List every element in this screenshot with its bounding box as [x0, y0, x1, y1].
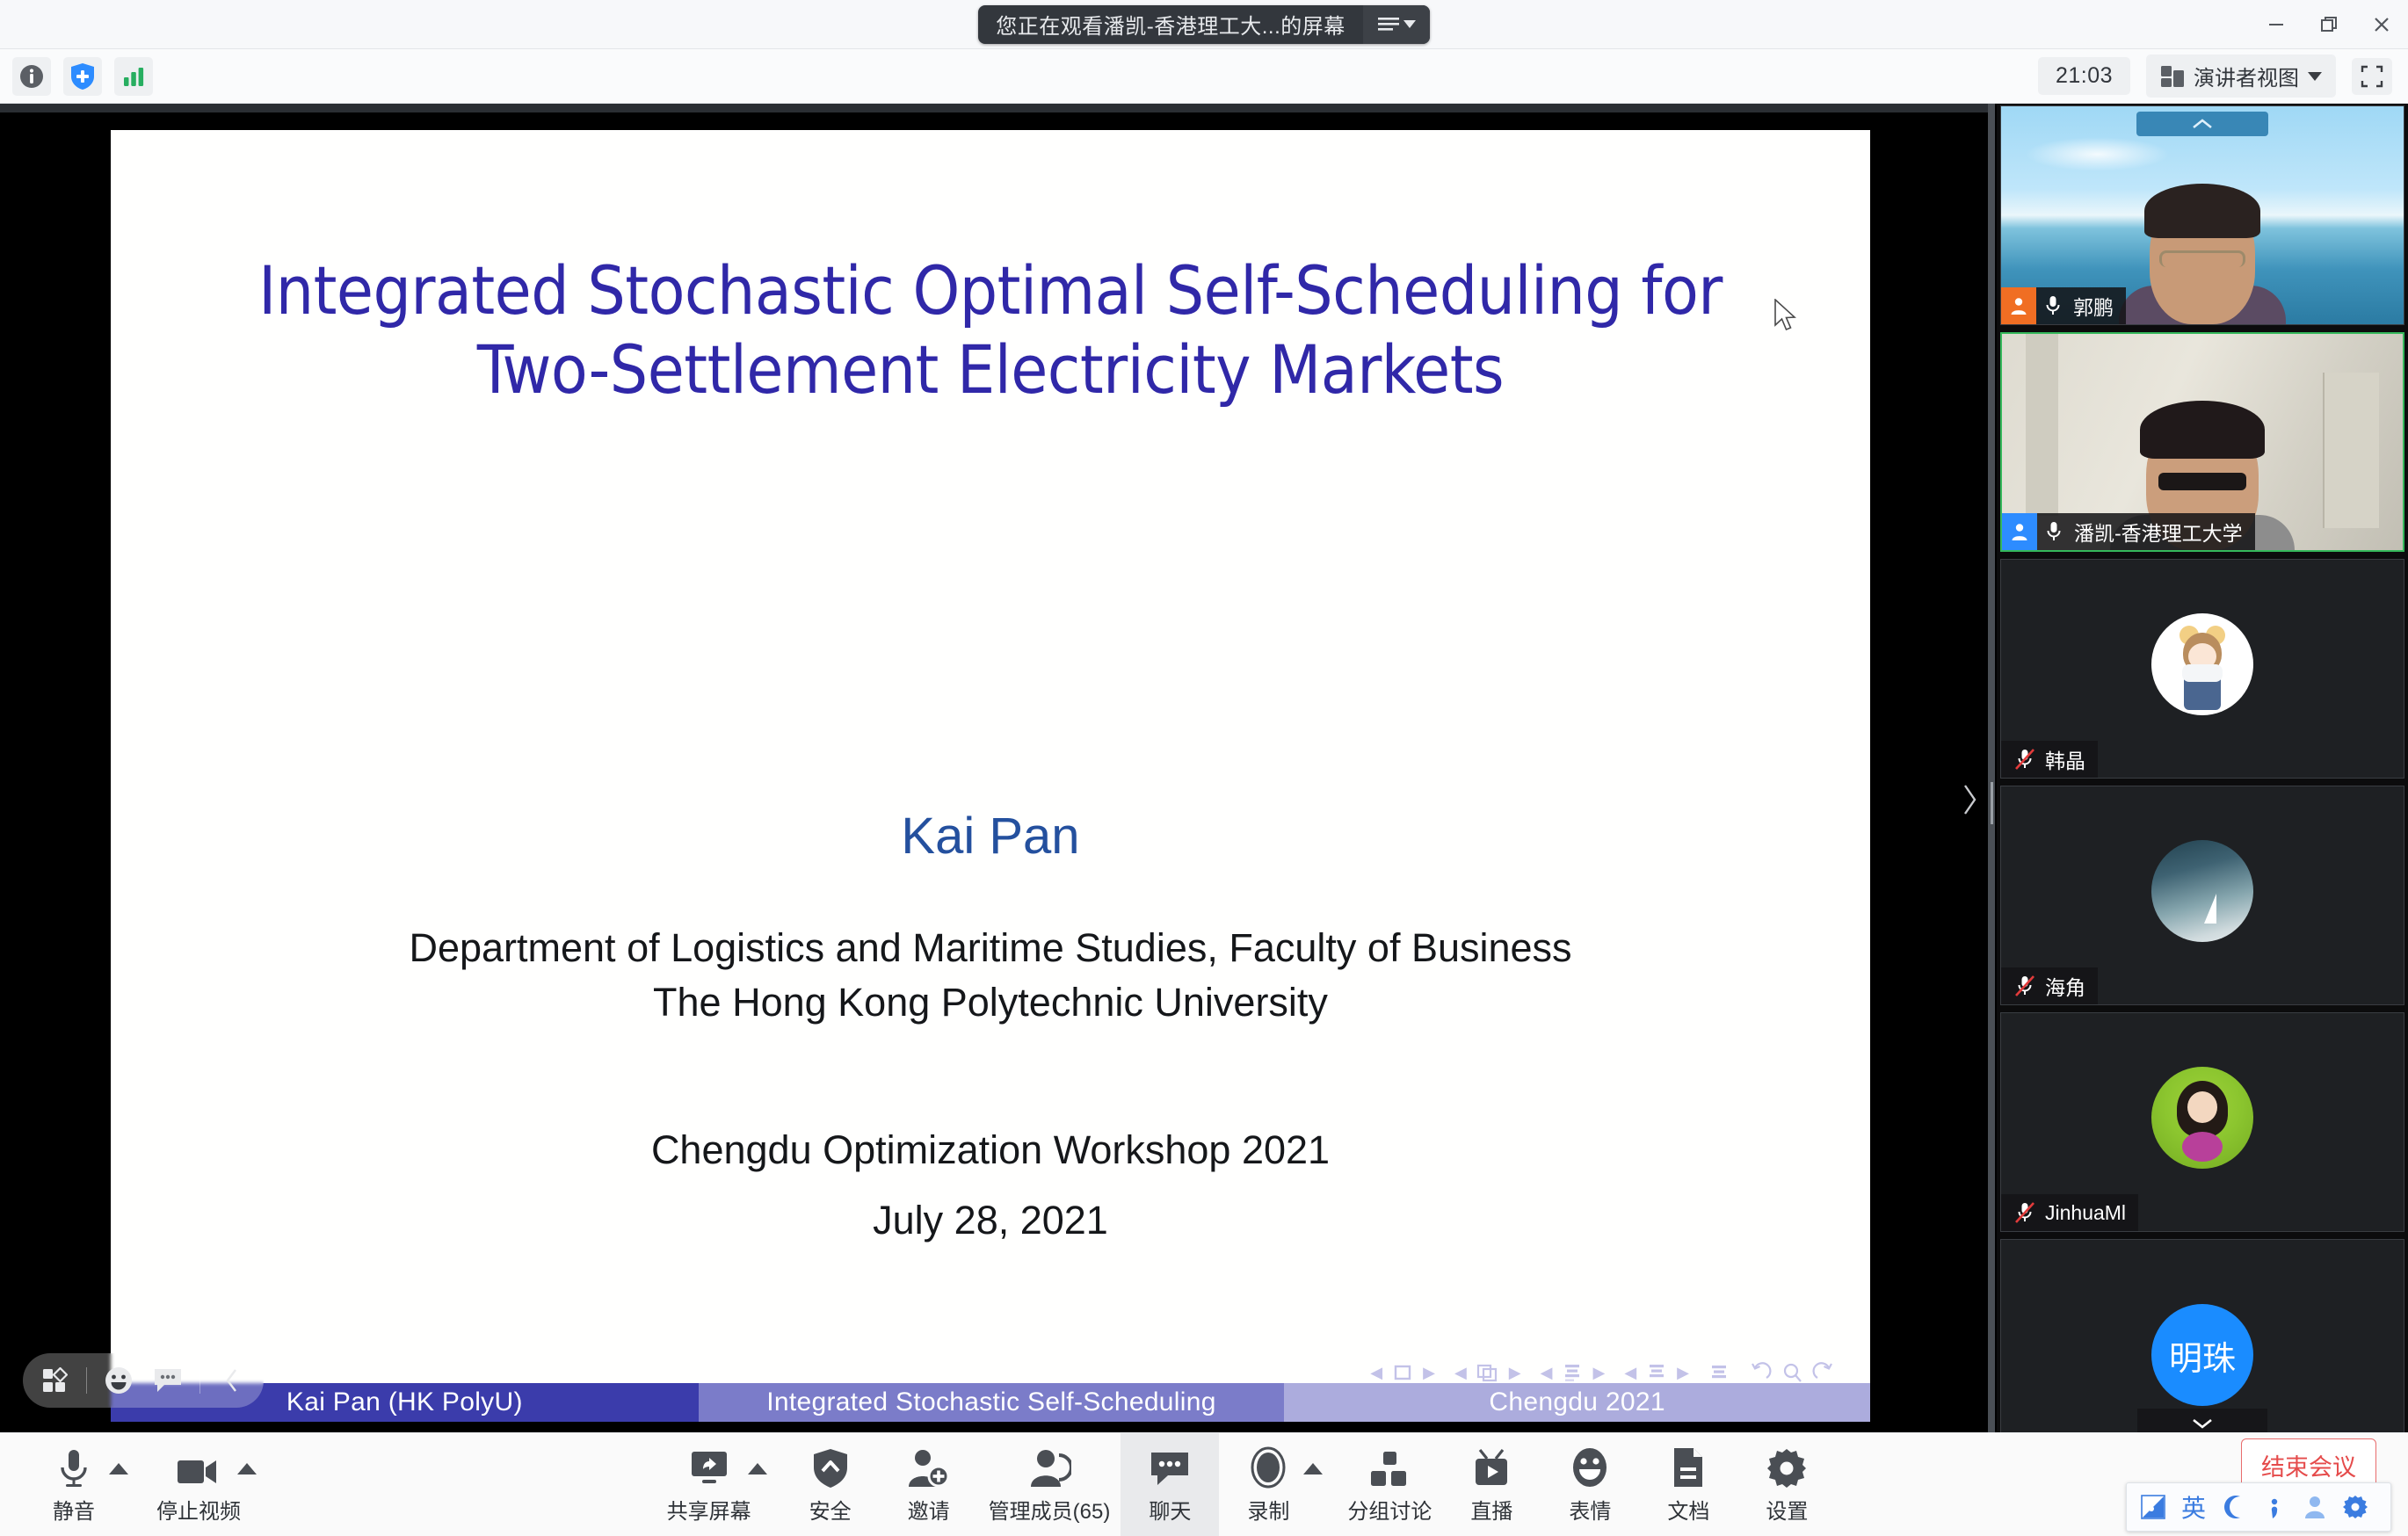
chat-bubble-icon[interactable]: [145, 1358, 191, 1403]
audio-options-caret[interactable]: [109, 1463, 128, 1474]
beamer-section-nav: ◀ ▶: [1624, 1362, 1689, 1383]
gear-icon[interactable]: [2336, 1488, 2375, 1526]
live-stream-label: 直播: [1470, 1494, 1512, 1525]
meeting-info-button[interactable]: [12, 57, 51, 96]
expand-filmstrip-button[interactable]: [2137, 1409, 2267, 1432]
affiliation-line1: Department of Logistics and Maritime Stu…: [111, 921, 1870, 975]
enter-fullscreen-button[interactable]: [2352, 58, 2392, 95]
section-next-button[interactable]: ▶: [1677, 1365, 1689, 1380]
share-screen-button[interactable]: 共享屏幕: [656, 1433, 762, 1536]
beamer-slide-nav: ◀ ▶: [1454, 1362, 1521, 1383]
undo-icon[interactable]: [1749, 1362, 1772, 1383]
beamer-footer-title: Integrated Stochastic Self-Scheduling: [699, 1383, 1285, 1422]
ime-language-bar[interactable]: 英: [2126, 1482, 2391, 1532]
network-stats-button[interactable]: [114, 57, 153, 96]
invite-label: 邀请: [908, 1494, 950, 1525]
slide-next-button[interactable]: ▶: [1509, 1365, 1521, 1380]
reactions-button[interactable]: 表情: [1541, 1433, 1639, 1536]
microphone-icon: [2037, 520, 2071, 543]
section-icon[interactable]: [1646, 1362, 1667, 1383]
beamer-navigation-bar: ◀ ▶ ◀ ▶ ◀: [1370, 1362, 1854, 1383]
mute-label: 静音: [53, 1494, 95, 1525]
live-stream-button[interactable]: 直播: [1442, 1433, 1541, 1536]
slide-title-line1: Integrated Stochastic Optimal Self-Sched…: [111, 251, 1870, 330]
documents-label: 文档: [1667, 1494, 1709, 1525]
fullscreen-icon: [2361, 65, 2383, 88]
document-icon[interactable]: [1708, 1362, 1730, 1383]
view-mode-label: 演讲者视图: [2194, 61, 2299, 91]
toolbar-divider-2: [199, 1367, 200, 1394]
beamer-doc-nav: [1708, 1362, 1730, 1383]
meeting-bottom-toolbar: 静音 停止视频 共享屏幕: [0, 1432, 2408, 1536]
microphone-muted-icon: [2008, 1201, 2042, 1224]
slide-author: Kai Pan: [111, 807, 1870, 866]
invite-button[interactable]: 邀请: [880, 1433, 978, 1536]
avatar-initials: 明珠: [2169, 1331, 2236, 1380]
manage-participants-label: 管理成员(65): [989, 1494, 1111, 1525]
frame-prev-button[interactable]: ◀: [1370, 1365, 1382, 1380]
participant-namebar: 海角: [2001, 967, 2098, 1004]
participant-tile[interactable]: 郭鹏: [2000, 105, 2404, 325]
breakout-rooms-label: 分组讨论: [1347, 1494, 1432, 1525]
minimize-button[interactable]: [2250, 0, 2303, 49]
stage-top-strip: [0, 104, 1991, 112]
chevron-down-icon: [1403, 20, 1416, 28]
avatar: [2151, 840, 2253, 942]
beamer-footer-venue: Chengdu 2021: [1284, 1383, 1870, 1422]
record-label: 录制: [1247, 1494, 1289, 1525]
participant-tile[interactable]: 韩晶: [2000, 559, 2404, 779]
expand-panel-button[interactable]: [1955, 773, 1984, 826]
shield-plus-icon: [69, 62, 96, 91]
maximize-restore-button[interactable]: [2303, 0, 2355, 49]
participant-namebar: 郭鹏: [2001, 287, 2126, 324]
frame-icon[interactable]: [1392, 1362, 1413, 1383]
mute-button[interactable]: 静音: [25, 1433, 123, 1536]
slide-affiliation: Department of Logistics and Maritime Stu…: [111, 921, 1870, 1030]
participant-tile[interactable]: 潘凯-香港理工大学: [2000, 332, 2404, 552]
participant-filmstrip[interactable]: 郭鹏 潘凯-香港理工大学: [1997, 104, 2408, 1432]
chevron-left-icon[interactable]: [209, 1358, 255, 1403]
toolbar-divider: [86, 1367, 87, 1394]
document-icon: [1671, 1446, 1706, 1489]
collapse-filmstrip-button[interactable]: [2136, 112, 2268, 136]
view-mode-selector[interactable]: 演讲者视图: [2146, 54, 2336, 98]
chevron-right-icon: [1960, 782, 1979, 817]
invite-person-icon: [907, 1446, 951, 1489]
settings-button[interactable]: 设置: [1737, 1433, 1836, 1536]
participant-name: 潘凯-香港理工大学: [2071, 517, 2243, 547]
chat-button[interactable]: 聊天: [1121, 1433, 1219, 1536]
panel-resize-divider[interactable]: [1988, 104, 1995, 1432]
speaker-view-icon: [2160, 65, 2185, 88]
punctuation-icon[interactable]: [2255, 1488, 2294, 1526]
control-bar-left: [0, 57, 153, 96]
chevron-down-icon: [2308, 72, 2322, 81]
microphone-icon: [54, 1446, 93, 1489]
share-screen-label: 共享屏幕: [667, 1494, 751, 1525]
participant-head: [2150, 192, 2255, 324]
share-screen-icon: [688, 1446, 730, 1489]
emoji-icon[interactable]: [96, 1358, 141, 1403]
participant-namebar: JinhuaMl: [2001, 1194, 2138, 1231]
chat-label: 聊天: [1149, 1494, 1191, 1525]
participant-namebar: 潘凯-香港理工大学: [2002, 513, 2255, 550]
user-icon[interactable]: [2296, 1488, 2334, 1526]
ime-language-label[interactable]: 英: [2174, 1488, 2213, 1526]
participant-tile[interactable]: 海角: [2000, 786, 2404, 1005]
chat-icon: [1149, 1446, 1191, 1489]
screen-sharing-notice[interactable]: 您正在观看潘凯-香港理工大...的屏幕: [978, 5, 1430, 44]
mouse-cursor: [1773, 299, 1800, 336]
avatar: [2151, 613, 2253, 715]
participant-name: 海角: [2042, 971, 2085, 1001]
settings-label: 设置: [1766, 1494, 1808, 1525]
beamer-frame-nav: ◀ ▶: [1370, 1362, 1435, 1383]
slides-stack-icon[interactable]: [1476, 1362, 1499, 1383]
stop-video-button[interactable]: 停止视频: [146, 1433, 251, 1536]
security-button[interactable]: 安全: [781, 1433, 880, 1536]
bottom-toolbar-left: 静音 停止视频: [0, 1433, 251, 1536]
avatar-badge-icon: [2001, 287, 2036, 324]
meeting-timer: 21:03: [2038, 57, 2130, 95]
participant-name: JinhuaMl: [2042, 1201, 2126, 1225]
section-prev-button[interactable]: ◀: [1624, 1365, 1636, 1380]
subsection-next-button[interactable]: ▶: [1592, 1365, 1605, 1380]
slide-venue: Chengdu Optimization Workshop 2021: [111, 1123, 1870, 1177]
window-title-bar: 您正在观看潘凯-香港理工大...的屏幕: [0, 0, 2408, 49]
bottom-toolbar-center: 共享屏幕 安全 邀请: [656, 1433, 1837, 1536]
subsection-icon[interactable]: [1562, 1362, 1583, 1383]
meeting-control-bar: 21:03 演讲者视图: [0, 49, 2408, 104]
beamer-history-nav: [1749, 1362, 1835, 1383]
frame-next-button[interactable]: ▶: [1423, 1365, 1435, 1380]
ime-logo-icon[interactable]: [2134, 1488, 2172, 1526]
manage-participants-button[interactable]: 管理成员(65): [978, 1433, 1121, 1536]
stage-floating-toolbar: [23, 1353, 264, 1408]
encryption-status-button[interactable]: [63, 57, 102, 96]
shield-icon: [812, 1446, 849, 1489]
settings-gear-icon: [1766, 1446, 1807, 1489]
participant-namebar: 韩晶: [2001, 741, 2098, 778]
avatar: 明珠: [2151, 1304, 2253, 1406]
participant-tile[interactable]: JinhuaMl: [2000, 1012, 2404, 1232]
window-controls: [2250, 0, 2408, 49]
reactions-icon: [1570, 1446, 1609, 1489]
bar-chart-icon: [120, 63, 147, 90]
moon-icon[interactable]: [2215, 1488, 2253, 1526]
search-icon[interactable]: [1781, 1362, 1802, 1383]
presentation-slide: Integrated Stochastic Optimal Self-Sched…: [111, 130, 1870, 1422]
close-button[interactable]: [2355, 0, 2408, 49]
microphone-muted-icon: [2008, 748, 2042, 771]
slide-title-line2: Two-Settlement Electricity Markets: [111, 330, 1870, 409]
record-button[interactable]: 录制: [1219, 1433, 1317, 1536]
control-bar-right: 21:03 演讲者视图: [2038, 54, 2408, 98]
avatar: [2151, 1067, 2253, 1169]
microphone-icon: [2036, 294, 2070, 317]
breakout-rooms-icon: [1369, 1446, 1410, 1489]
live-stream-icon: [1471, 1446, 1512, 1489]
beamer-subsection-nav: ◀ ▶: [1541, 1362, 1606, 1383]
slide-title: Integrated Stochastic Optimal Self-Sched…: [111, 251, 1870, 409]
microphone-muted-icon: [2008, 974, 2042, 997]
participant-tile[interactable]: 明珠: [2000, 1239, 2404, 1432]
avatar-badge-icon: [2002, 513, 2037, 550]
info-icon: [18, 63, 45, 90]
apps-grid-icon[interactable]: [32, 1358, 77, 1403]
video-options-caret[interactable]: [237, 1463, 257, 1474]
camera-icon: [176, 1446, 221, 1489]
reactions-label: 表情: [1569, 1494, 1611, 1525]
share-options-caret[interactable]: [748, 1463, 767, 1474]
breakout-rooms-button[interactable]: 分组讨论: [1337, 1433, 1442, 1536]
redo-icon[interactable]: [1812, 1362, 1835, 1383]
sharing-notice-text: 您正在观看潘凯-香港理工大...的屏幕: [978, 5, 1363, 44]
slide-date: July 28, 2021: [111, 1198, 1870, 1243]
beamer-footer: Kai Pan (HK PolyU) Integrated Stochastic…: [111, 1383, 1870, 1422]
affiliation-line2: The Hong Kong Polytechnic University: [111, 975, 1870, 1030]
record-options-caret[interactable]: [1303, 1463, 1323, 1474]
record-icon: [1249, 1446, 1287, 1489]
documents-button[interactable]: 文档: [1639, 1433, 1737, 1536]
subsection-prev-button[interactable]: ◀: [1541, 1365, 1553, 1380]
slide-prev-button[interactable]: ◀: [1454, 1365, 1467, 1380]
shared-screen-stage: Integrated Stochastic Optimal Self-Sched…: [0, 104, 1991, 1432]
hamburger-icon: [1377, 17, 1400, 33]
sharing-notice-menu[interactable]: [1363, 5, 1430, 44]
panel-drag-handle[interactable]: [1991, 782, 1993, 824]
security-label: 安全: [809, 1494, 852, 1525]
stop-video-label: 停止视频: [156, 1494, 241, 1525]
participant-name: 郭鹏: [2070, 291, 2114, 321]
participant-name: 韩晶: [2042, 744, 2085, 774]
participants-icon: [1027, 1446, 1071, 1489]
